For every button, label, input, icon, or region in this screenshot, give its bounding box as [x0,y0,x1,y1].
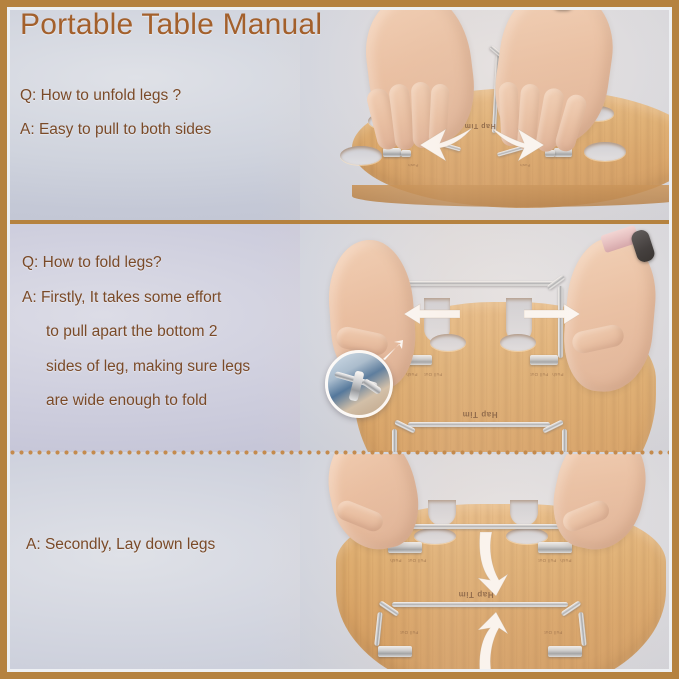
bracket-left-inner [401,150,411,157]
engrave-push-upper-left: Push [390,558,401,563]
panel1-answer: A: Easy to pull to both sides [20,122,211,138]
engrave-pull-out-left: Pull Out [424,372,442,377]
bracket-right [530,355,558,365]
panel1-question: Q: How to unfold legs ? [20,88,181,104]
manual-page: Pull Out Pull Out Push Push Hap Tim [0,0,679,679]
arrow-down-icon [472,530,514,598]
cup-hole-right [500,334,536,351]
arrow-left-icon [404,302,460,326]
bracket-lower-left [378,646,412,657]
engrave-pull-out-lower-right: Pull Out [544,630,562,635]
hinge-closeup-inset [325,350,393,418]
engrave-pull-out-lower-left: Pull Out [400,630,418,635]
brand-engraving: Hap Tim [462,410,498,419]
cup-hole-left-2 [340,146,382,165]
arrow-left-icon [416,124,474,166]
page-title: Portable Table Manual [20,8,322,42]
bracket-upper-right [538,542,572,553]
panel2-answer-line-1: A: Firstly, It takes some effort [22,290,250,306]
engrave-pull-out-upper-right: Pull Out [538,558,556,563]
arrow-up-icon [472,610,514,678]
leg-lower-bar [392,602,568,607]
arrow-right-icon [524,302,580,326]
panel3-answer: A: Secondly, Lay down legs [26,537,215,553]
engrave-pull-out-upper-left: Pull Out [408,558,426,563]
table-edge [352,185,679,207]
leg-bottom-right-post [562,429,567,452]
panel2-text-block: Q: How to fold legs? A: Firstly, It take… [22,255,250,428]
bracket-lower-right [548,646,582,657]
divider-solid [7,220,672,224]
panel2-answer-line-3: sides of leg, making sure legs [22,359,250,375]
cup-hole-right-2 [584,142,626,161]
panel2-answer-line-4: are wide enough to fold [22,393,250,409]
panel2-question: Q: How to fold legs? [22,255,250,271]
arrow-right-icon [490,124,548,166]
leg-top-horizontal-bar [404,281,554,286]
engrave-push-right: Push [552,372,563,377]
cup-hole-left [430,334,466,351]
engrave-push-left: Push [406,372,417,377]
leg-bottom-left-post [392,429,397,452]
inset-pointer-arrow-icon [382,340,404,360]
engrave-push-upper-right: Push [560,558,571,563]
leg-bottom-horizontal-bar [408,422,550,427]
panel-fold-legs-step2: Pull Out Push Pull Out Push Pull Out Pul… [0,454,679,679]
panel2-answer-line-2: to pull apart the bottom 2 [22,324,250,340]
photo-fold-step2-scene: Pull Out Push Pull Out Push Pull Out Pul… [0,454,679,679]
leg-upper-bar [390,524,570,529]
panel-unfold-legs: Pull Out Pull Out Push Push Hap Tim [0,0,679,222]
engrave-pull-out-right: Pull Out [530,372,548,377]
divider-dotted [8,450,671,455]
